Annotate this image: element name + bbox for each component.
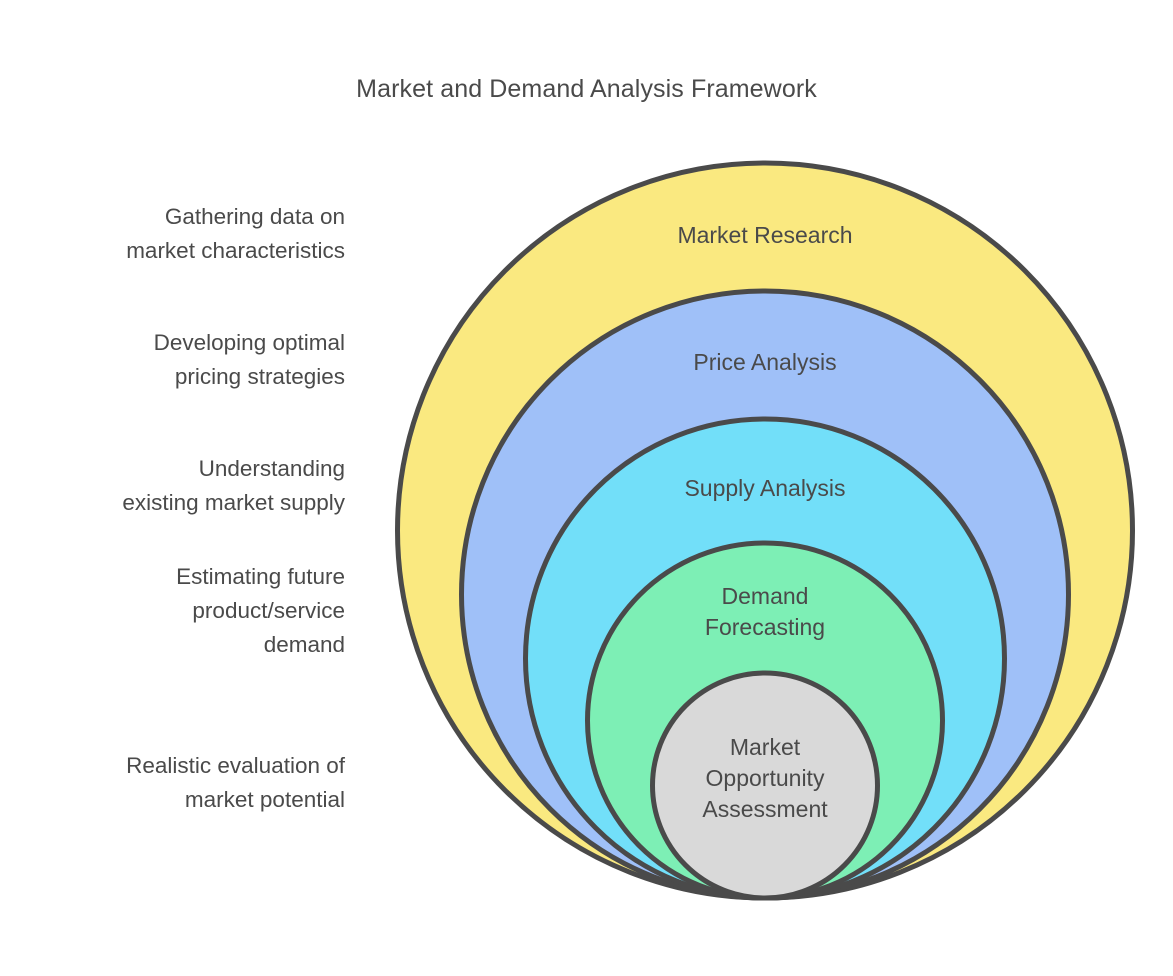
- circles-svg: [345, 0, 1173, 976]
- description-supply-analysis: Understanding existing market supply: [0, 452, 345, 520]
- diagram-page: Market and Demand Analysis Framework Gat…: [0, 0, 1173, 976]
- description-demand-forecasting: Estimating future product/service demand: [0, 560, 345, 662]
- circle-market-opportunity-assessment[interactable]: [653, 673, 878, 898]
- description-market-research: Gathering data on market characteristics: [0, 200, 345, 268]
- description-price-analysis: Developing optimal pricing strategies: [0, 326, 345, 394]
- description-list: Gathering data on market characteristics…: [0, 150, 345, 850]
- description-market-opportunity-assessment: Realistic evaluation of market potential: [0, 749, 345, 817]
- concentric-circles-diagram: Market Research Price Analysis Supply An…: [345, 0, 1173, 976]
